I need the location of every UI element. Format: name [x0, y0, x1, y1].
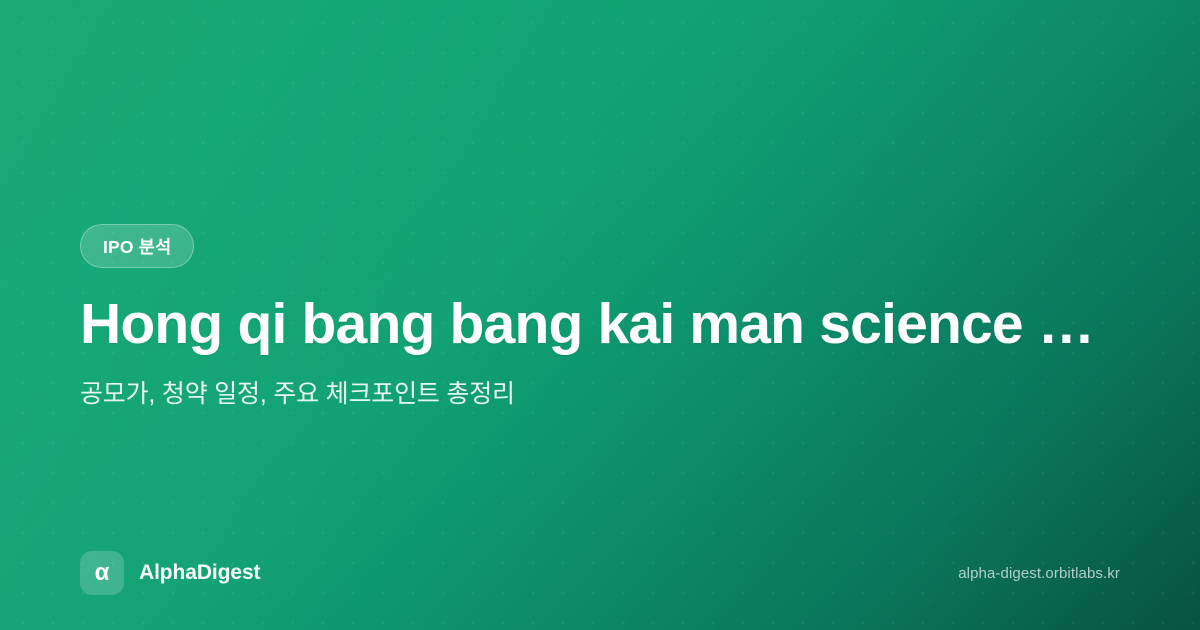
page-subtitle: 공모가, 청약 일정, 주요 체크포인트 총정리	[80, 378, 515, 412]
brand-lockup: α AlphaDigest	[80, 551, 260, 595]
card-content: IPO 분석 Hong qi bang bang kai man science…	[80, 0, 1120, 630]
alpha-logo-icon: α	[80, 551, 124, 595]
card-footer: α AlphaDigest alpha-digest.orbitlabs.kr	[80, 551, 1120, 595]
og-share-card: IPO 분석 Hong qi bang bang kai man science…	[0, 0, 1200, 630]
brand-name: AlphaDigest	[139, 561, 260, 585]
site-url: alpha-digest.orbitlabs.kr	[958, 565, 1120, 582]
page-title: Hong qi bang bang kai man science &...	[80, 292, 1120, 358]
category-badge: IPO 분석	[80, 224, 194, 268]
